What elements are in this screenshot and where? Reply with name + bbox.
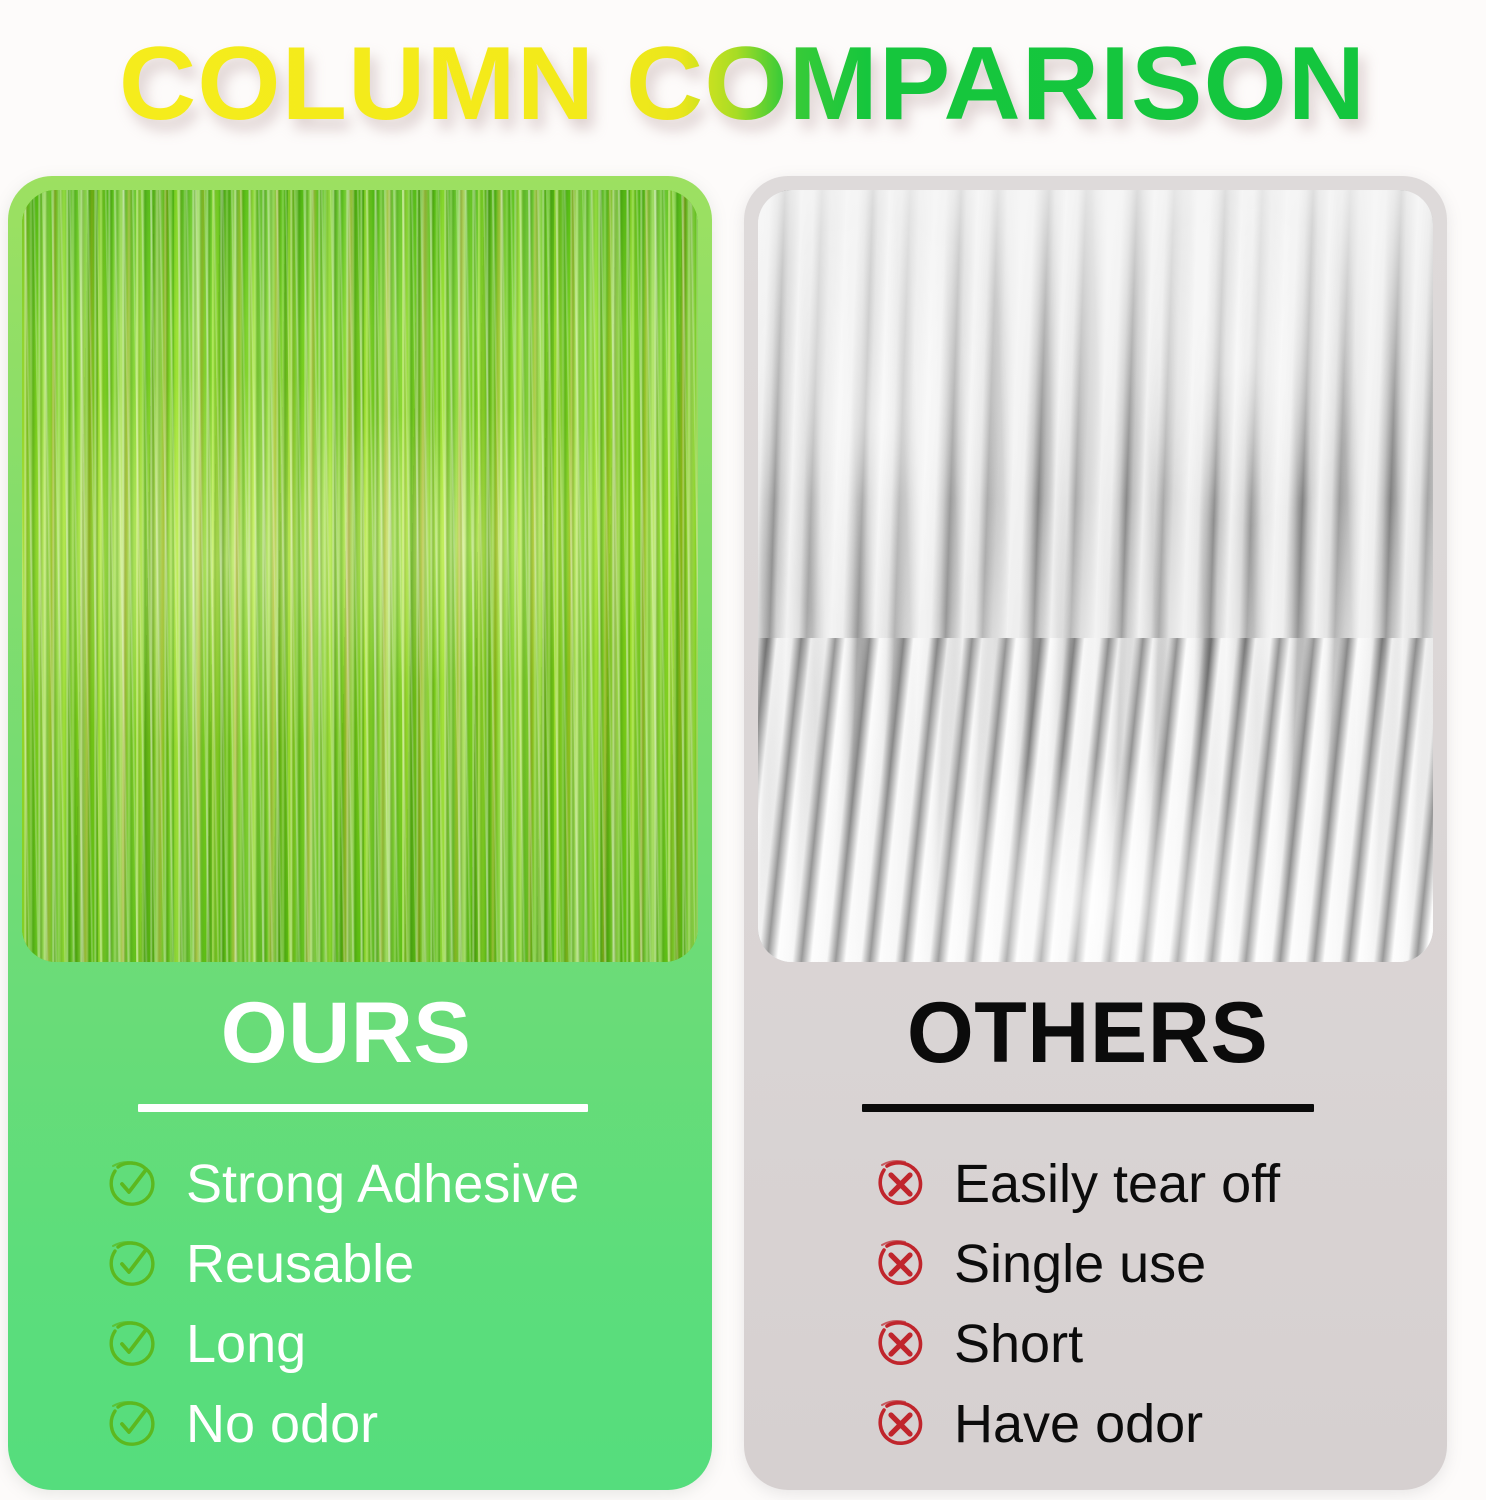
check-circle-icon [106,1318,158,1370]
cross-circle-icon [874,1398,926,1450]
list-item: Long [8,1304,712,1384]
silver-foil-fringe-curtain-photo [758,190,1433,962]
list-item: Single use [744,1224,1447,1304]
list-item: Reusable [8,1224,712,1304]
list-item: Easily tear off [744,1144,1447,1224]
feature-label: No odor [186,1397,378,1451]
feature-label: Long [186,1317,306,1371]
page-title: COLUMN COMPARISON [119,32,1366,136]
feature-list-others: Easily tear off Single use [744,1144,1447,1464]
photo-shimmer-overlay [22,190,698,962]
comparison-panel-others: OTHERS Easily tear off [744,176,1447,1490]
feature-label: Have odor [954,1397,1203,1451]
cross-circle-icon [874,1318,926,1370]
feature-label: Strong Adhesive [186,1157,579,1211]
green-foil-fringe-curtain-photo [22,190,698,962]
check-circle-icon [106,1238,158,1290]
title-bar: COLUMN COMPARISON [0,0,1486,168]
panel-heading-others: OTHERS [744,990,1447,1076]
list-item: Have odor [744,1384,1447,1464]
cross-circle-icon [874,1158,926,1210]
feature-label: Easily tear off [954,1157,1280,1211]
heading-divider-ours [138,1104,588,1112]
panel-heading-ours: OURS [8,990,712,1076]
feature-label: Short [954,1317,1083,1371]
photo-glare-overlay [758,190,1433,962]
feature-list-ours: Strong Adhesive Reusable [8,1144,712,1464]
feature-label: Single use [954,1237,1206,1291]
list-item: Strong Adhesive [8,1144,712,1224]
check-circle-icon [106,1158,158,1210]
comparison-panel-ours: OURS Strong Adhesive [8,176,712,1490]
heading-divider-others [862,1104,1314,1112]
check-circle-icon [106,1398,158,1450]
list-item: Short [744,1304,1447,1384]
feature-label: Reusable [186,1237,414,1291]
cross-circle-icon [874,1238,926,1290]
list-item: No odor [8,1384,712,1464]
